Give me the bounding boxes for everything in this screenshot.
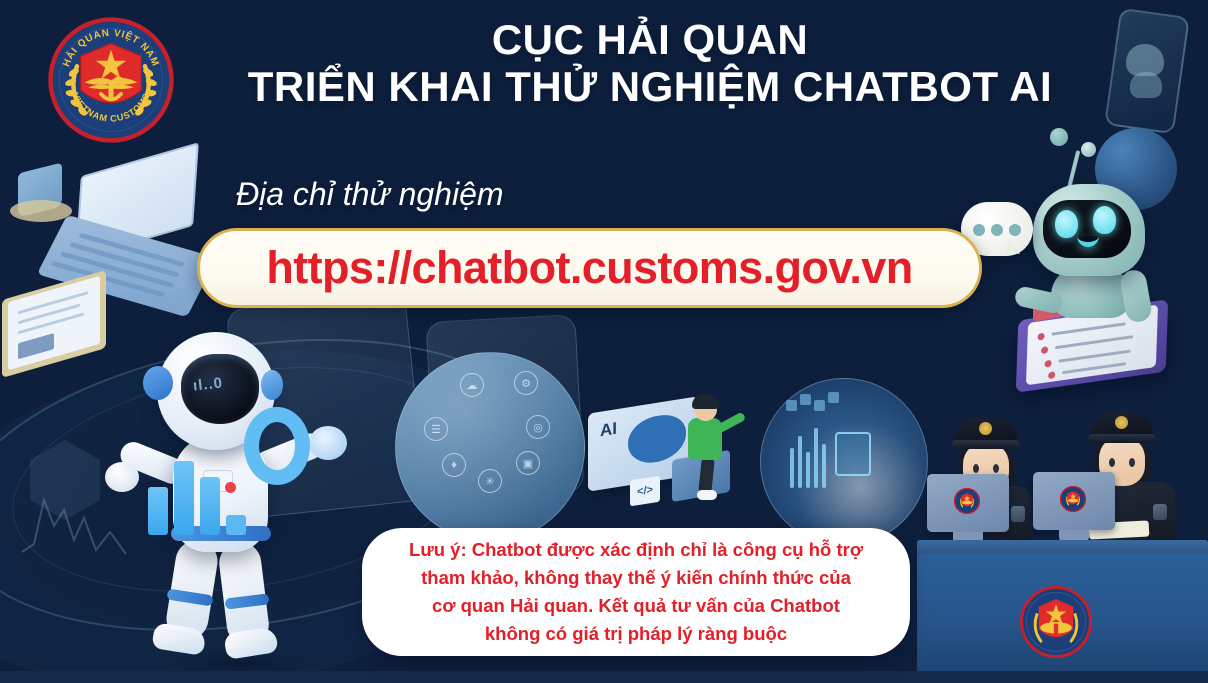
disclaimer-note-box: Lưu ý: Chatbot được xác định chỉ là công…	[362, 528, 910, 656]
node-icon-3: ⚙	[514, 371, 538, 395]
monitor-left	[927, 474, 1009, 532]
officer-female-badge	[1011, 506, 1025, 522]
phone-robot-head	[1126, 44, 1164, 76]
monitor-left-logo	[954, 488, 980, 514]
clipboard-illustration	[2, 270, 106, 378]
astronaut-chest-light	[225, 482, 236, 493]
person-body	[688, 418, 722, 460]
note-line-1: Lưu ý: Chatbot được xác định chỉ là công…	[409, 536, 863, 564]
note-line-2: tham khảo, không thay thế ý kiến chính t…	[421, 564, 851, 592]
keyboard-photo-bubble: ☰ ☁ ⚙ ◎ ♦ ✳ ▣	[395, 352, 585, 542]
person-head	[694, 398, 717, 421]
customs-officers-scene	[905, 390, 1208, 683]
customs-emblem-logo: HẢI QUAN VIỆT NAM VIETNAM CUSTOMS	[48, 17, 174, 143]
laptop-base-illustration	[37, 215, 217, 317]
ai-board-illustration	[588, 396, 698, 491]
astronaut-ear-left	[143, 366, 173, 400]
title-line-2: TRIỂN KHAI THỬ NGHIỆM CHATBOT AI	[170, 63, 1130, 110]
cup-saucer-illustration	[10, 200, 72, 222]
person-shoe	[697, 490, 717, 500]
chatbot-url-text[interactable]: https://chatbot.customs.gov.vn	[266, 242, 912, 294]
coffee-cup-illustration	[18, 163, 62, 218]
officer-female-hat-badge	[979, 422, 992, 435]
chatbot-url-pill[interactable]: https://chatbot.customs.gov.vn	[197, 228, 982, 308]
clipboard-paper-illustration	[8, 276, 100, 370]
person-hair	[692, 394, 719, 409]
laptop-screen-illustration	[75, 142, 199, 259]
node-icon-7: ▣	[516, 451, 540, 475]
mascot-eye-right	[1093, 206, 1116, 234]
node-icon-6: ✳	[478, 469, 502, 493]
astronaut-right-hand	[309, 426, 347, 460]
mascot-eye-left	[1055, 210, 1078, 238]
person-arm	[716, 411, 747, 433]
chart-ring-zero	[244, 407, 310, 485]
astronaut-ear-right	[261, 370, 283, 400]
note-line-3: cơ quan Hải quan. Kết quả tư vấn của Cha…	[432, 592, 840, 620]
mascot-antenna-tip	[1081, 142, 1096, 157]
node-icon-5: ♦	[442, 453, 466, 477]
subtitle-label: Địa chỉ thử nghiệm	[236, 176, 504, 213]
glass-panel-mid	[425, 314, 584, 500]
node-icon-4: ◎	[526, 415, 550, 439]
hologram-hand-photo-bubble	[760, 378, 928, 546]
ai-board-label: AI	[600, 419, 617, 442]
officer-male-hat-brim	[1088, 434, 1156, 443]
officer-male-hat-badge	[1115, 416, 1128, 429]
officer-male-badge	[1153, 504, 1167, 520]
person-leg	[698, 457, 715, 494]
node-icon-2: ☁	[460, 373, 484, 397]
officer-female-hat-brim	[952, 440, 1020, 449]
chatbot-mascot-illustration	[985, 140, 1200, 370]
hexagon-decoration	[30, 440, 100, 520]
note-line-4: không có giá trị pháp lý ràng buộc	[485, 620, 787, 648]
astronaut-left-hand	[105, 462, 139, 492]
person-seat	[672, 450, 730, 502]
bottom-strip	[0, 671, 1208, 683]
astronaut-robot-illustration: ıl..0	[95, 330, 375, 675]
phone-robot-body	[1130, 72, 1162, 98]
desk-customs-emblem	[1020, 586, 1092, 658]
monitor-right	[1033, 472, 1115, 530]
holo-chip-graphic	[835, 432, 871, 476]
title-line-1: CỤC HẢI QUAN	[170, 16, 1130, 63]
ai-brain-shape	[628, 411, 686, 466]
node-icon-1: ☰	[424, 417, 448, 441]
poster-title: CỤC HẢI QUAN TRIỂN KHAI THỬ NGHIỆM CHATB…	[170, 16, 1130, 110]
poster-canvas: ☰ ☁ ⚙ ◎ ♦ ✳ ▣ AI </>	[0, 0, 1208, 683]
astronaut-visor-glyph: ıl..0	[192, 374, 224, 394]
code-card-icon: </>	[630, 476, 660, 507]
monitor-right-logo	[1060, 486, 1086, 512]
